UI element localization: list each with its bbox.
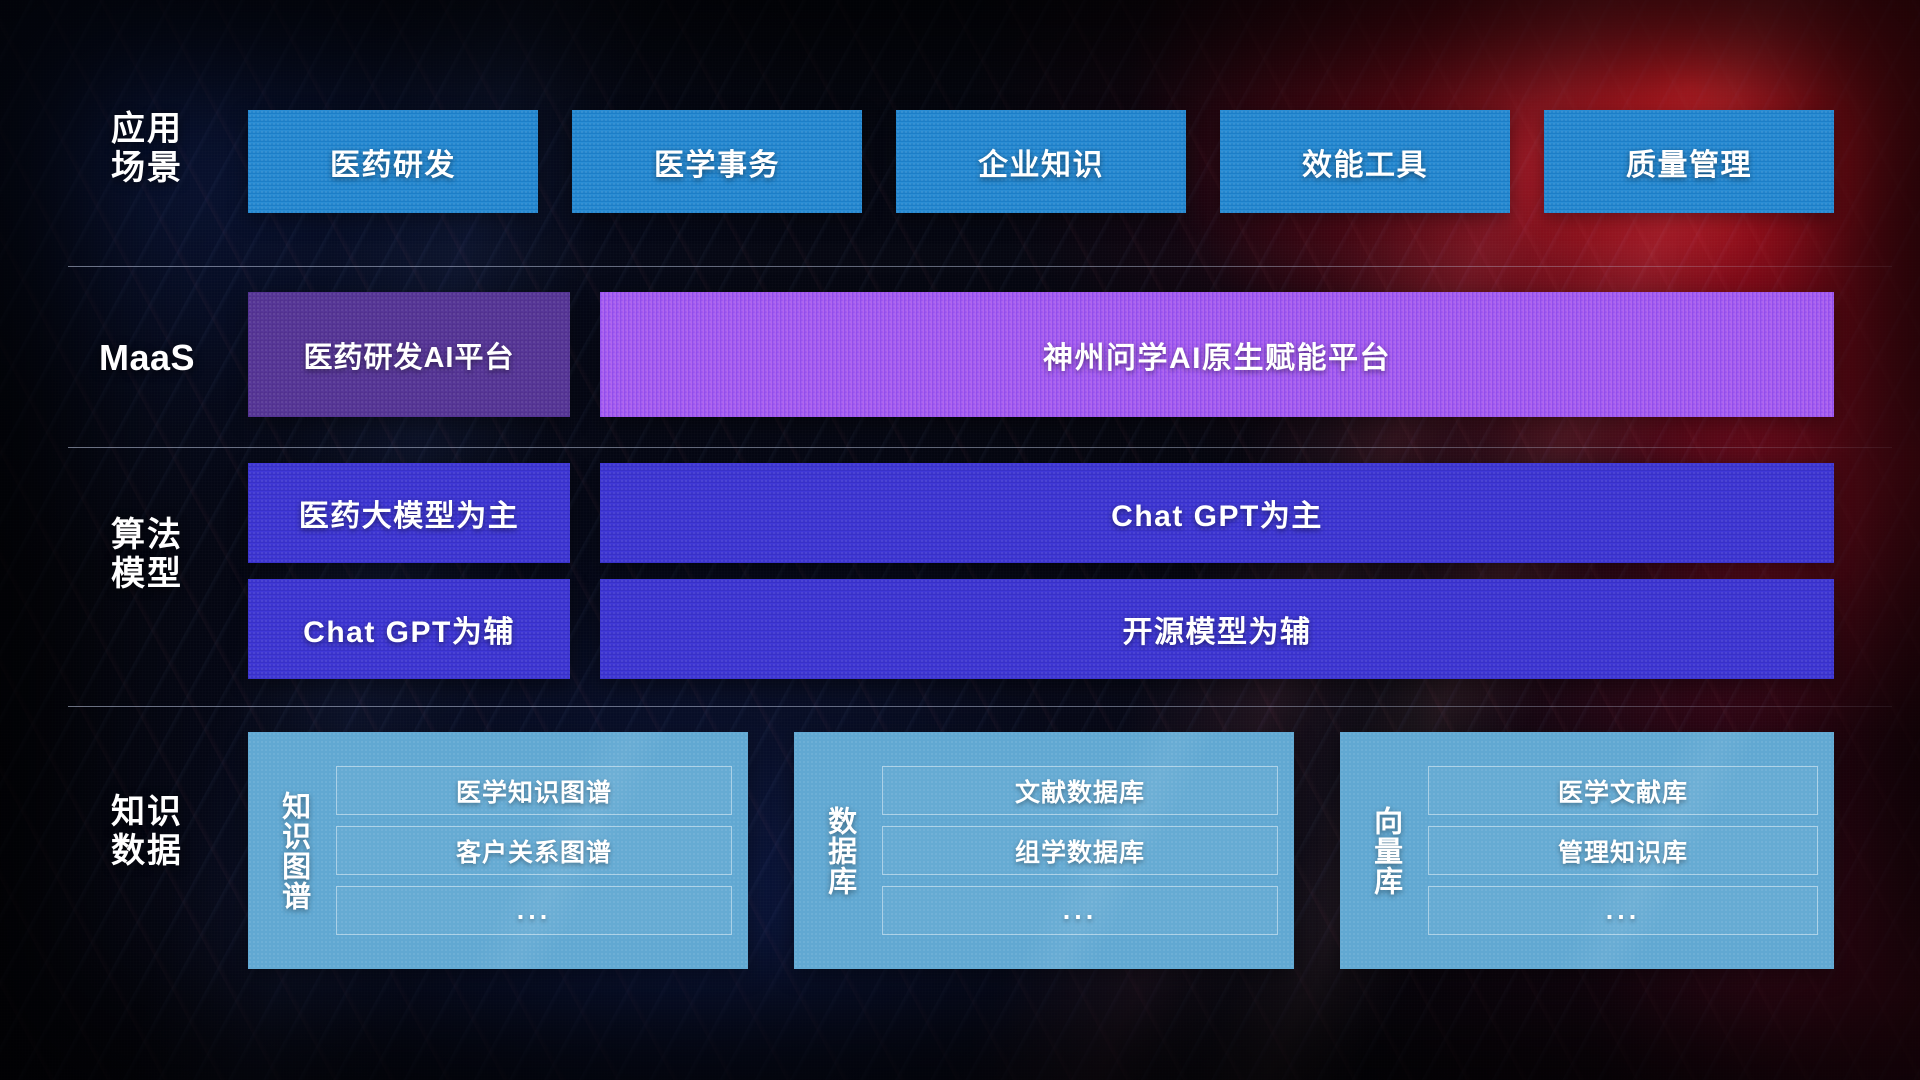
divider-after-maas (68, 447, 1892, 448)
knowledge-item-more-0-label: ... (517, 895, 552, 926)
row-label-application-scenario: 应用 场景 (72, 110, 222, 189)
knowledge-item-management-knowledge-store-label: 管理知识库 (1558, 833, 1688, 869)
knowledge-group-knowledge-graph[interactable]: 知识图谱 医学知识图谱 客户关系图谱 ... (248, 732, 748, 969)
knowledge-item-more-2-label: ... (1606, 895, 1641, 926)
algorithm-box-open-source-secondary[interactable]: 开源模型为辅 (600, 579, 1834, 679)
knowledge-item-more-0[interactable]: ... (336, 886, 732, 935)
algorithm-box-medical-llm-primary[interactable]: 医药大模型为主 (248, 463, 570, 563)
knowledge-group-knowledge-graph-title: 知识图谱 (260, 746, 326, 955)
knowledge-item-medical-literature-store[interactable]: 医学文献库 (1428, 766, 1818, 815)
knowledge-item-literature-database[interactable]: 文献数据库 (882, 766, 1278, 815)
knowledge-group-vector-store-items: 医学文献库 管理知识库 ... (1418, 746, 1822, 955)
knowledge-group-database-items: 文献数据库 组学数据库 ... (872, 746, 1282, 955)
maas-box-shenzhou-platform[interactable]: 神州问学AI原生赋能平台 (600, 292, 1834, 417)
row-label-maas: MaaS (72, 337, 222, 379)
row-label-knowledge-data: 知识 数据 (72, 793, 222, 872)
knowledge-item-more-1-label: ... (1063, 895, 1098, 926)
algorithm-box-chatgpt-secondary-label: Chat GPT为辅 (303, 607, 515, 651)
knowledge-item-more-1[interactable]: ... (882, 886, 1278, 935)
architecture-diagram: 应用 场景 医药研发 医学事务 企业知识 效能工具 质量管理 MaaS 医药研发… (0, 0, 1920, 1080)
knowledge-item-medical-literature-store-label: 医学文献库 (1558, 773, 1688, 809)
knowledge-group-knowledge-graph-items: 医学知识图谱 客户关系图谱 ... (326, 746, 736, 955)
knowledge-item-literature-database-label: 文献数据库 (1015, 773, 1145, 809)
algorithm-box-chatgpt-primary-label: Chat GPT为主 (1111, 491, 1323, 535)
algorithm-box-chatgpt-primary[interactable]: Chat GPT为主 (600, 463, 1834, 563)
scenario-box-4-label: 质量管理 (1626, 140, 1752, 184)
scenario-box-0-label: 医药研发 (330, 140, 456, 184)
knowledge-group-vector-store[interactable]: 向量库 医学文献库 管理知识库 ... (1340, 732, 1834, 969)
knowledge-item-omics-database-label: 组学数据库 (1015, 833, 1145, 869)
knowledge-group-vector-store-title: 向量库 (1352, 746, 1418, 955)
scenario-box-2-label: 企业知识 (978, 140, 1104, 184)
maas-box-medical-rd-platform-label: 医药研发AI平台 (303, 334, 514, 376)
knowledge-group-database[interactable]: 数据库 文献数据库 组学数据库 ... (794, 732, 1294, 969)
row-label-algorithm-model: 算法 模型 (72, 516, 222, 595)
divider-after-application-scenario (68, 266, 1892, 267)
maas-box-medical-rd-platform[interactable]: 医药研发AI平台 (248, 292, 570, 417)
algorithm-box-open-source-secondary-label: 开源模型为辅 (1123, 607, 1312, 651)
scenario-box-4[interactable]: 质量管理 (1544, 110, 1834, 213)
knowledge-item-customer-relation-graph-label: 客户关系图谱 (456, 833, 612, 869)
knowledge-item-medical-knowledge-graph[interactable]: 医学知识图谱 (336, 766, 732, 815)
scenario-box-2[interactable]: 企业知识 (896, 110, 1186, 213)
scenario-box-3-label: 效能工具 (1302, 140, 1428, 184)
diagram-canvas: 应用 场景 医药研发 医学事务 企业知识 效能工具 质量管理 MaaS 医药研发… (0, 0, 1920, 1080)
knowledge-item-more-2[interactable]: ... (1428, 886, 1818, 935)
algorithm-box-medical-llm-primary-label: 医药大模型为主 (299, 491, 520, 535)
knowledge-item-medical-knowledge-graph-label: 医学知识图谱 (456, 773, 612, 809)
scenario-box-3[interactable]: 效能工具 (1220, 110, 1510, 213)
algorithm-box-chatgpt-secondary[interactable]: Chat GPT为辅 (248, 579, 570, 679)
scenario-box-0[interactable]: 医药研发 (248, 110, 538, 213)
knowledge-item-customer-relation-graph[interactable]: 客户关系图谱 (336, 826, 732, 875)
divider-after-algorithm-model (68, 706, 1892, 707)
scenario-box-1-label: 医学事务 (654, 140, 780, 184)
knowledge-group-database-title: 数据库 (806, 746, 872, 955)
knowledge-item-omics-database[interactable]: 组学数据库 (882, 826, 1278, 875)
maas-box-shenzhou-platform-label: 神州问学AI原生赋能平台 (1043, 333, 1391, 377)
knowledge-item-management-knowledge-store[interactable]: 管理知识库 (1428, 826, 1818, 875)
scenario-box-1[interactable]: 医学事务 (572, 110, 862, 213)
